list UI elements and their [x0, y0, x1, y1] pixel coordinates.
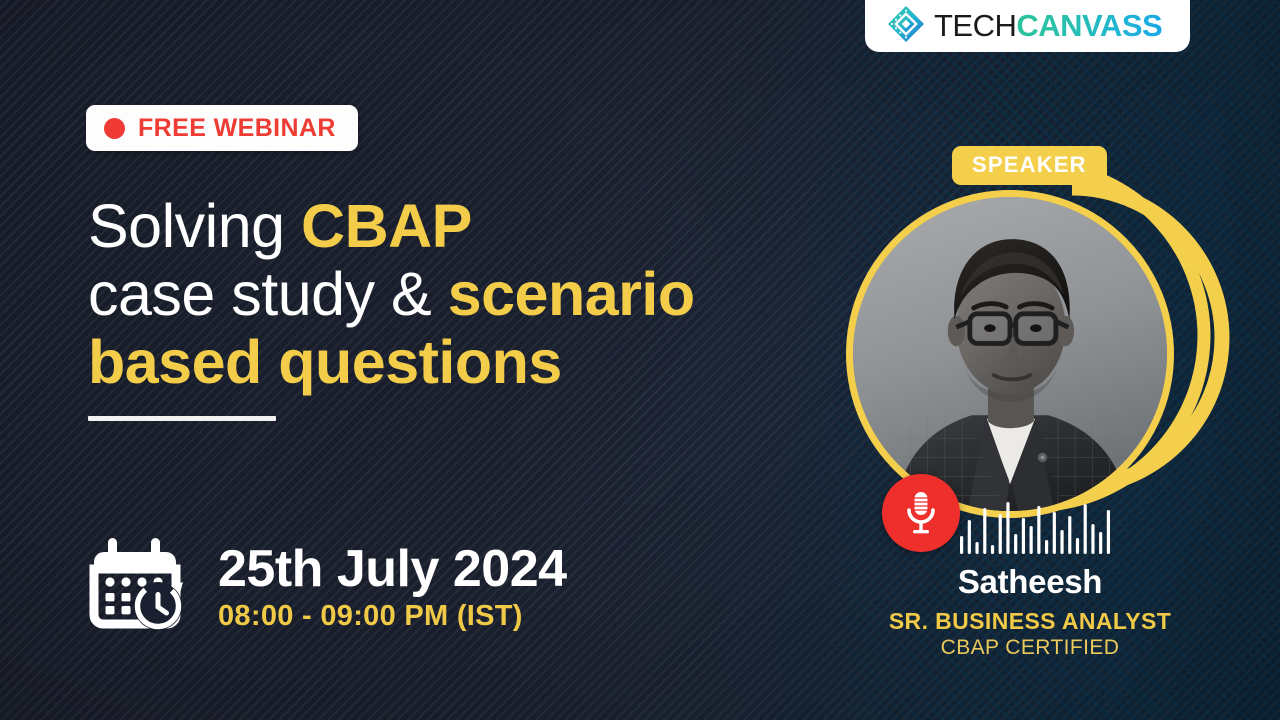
brand-wordmark: TECHCANVASS — [934, 9, 1162, 43]
event-datetime-block: 25th July 2024 08:00 - 09:00 PM (IST) — [88, 536, 567, 636]
headline-line-2: case study & scenario — [88, 260, 808, 328]
headline-line-3: based questions — [88, 328, 808, 396]
calendar-clock-icon — [88, 536, 192, 636]
nested-diamond-logo-icon — [887, 5, 925, 43]
headline-line-1: Solving CBAP — [88, 192, 808, 260]
headline-line-2-yellow: scenario — [448, 260, 695, 328]
brand-logo-plate: TECHCANVASS — [865, 0, 1190, 52]
event-time: 08:00 - 09:00 PM (IST) — [218, 599, 567, 633]
audio-waveform-icon — [960, 496, 1110, 558]
event-date: 25th July 2024 — [218, 541, 567, 597]
speaker-photo — [846, 190, 1174, 518]
speaker-certification: CBAP CERTIFIED — [860, 635, 1200, 660]
microphone-badge — [882, 474, 960, 552]
brand-name-tech: TECH — [934, 8, 1016, 43]
headline-line-1-white: Solving — [88, 192, 301, 260]
headline-line-2-white: case study & — [88, 260, 448, 328]
event-datetime-text: 25th July 2024 08:00 - 09:00 PM (IST) — [218, 536, 567, 633]
free-webinar-badge: FREE WEBINAR — [86, 105, 358, 151]
speaker-portrait-image — [853, 197, 1167, 511]
headline-divider — [88, 416, 276, 421]
headline-line-3-yellow: based questions — [88, 328, 562, 396]
page-title: Solving CBAP case study & scenario based… — [88, 192, 808, 396]
brand-name-canvass: CANVASS — [1016, 8, 1162, 43]
speaker-badge-label: SPEAKER — [972, 152, 1087, 177]
speaker-name: Satheesh — [860, 563, 1200, 601]
red-dot-icon — [104, 118, 125, 139]
free-webinar-label: FREE WEBINAR — [138, 114, 336, 143]
webinar-banner: TECHCANVASS FREE WEBINAR Solving CBAP ca… — [0, 0, 1280, 720]
microphone-icon — [901, 490, 941, 536]
headline-line-1-yellow: CBAP — [301, 192, 472, 260]
speaker-badge: SPEAKER — [952, 146, 1107, 185]
speaker-role: SR. BUSINESS ANALYST — [860, 608, 1200, 635]
